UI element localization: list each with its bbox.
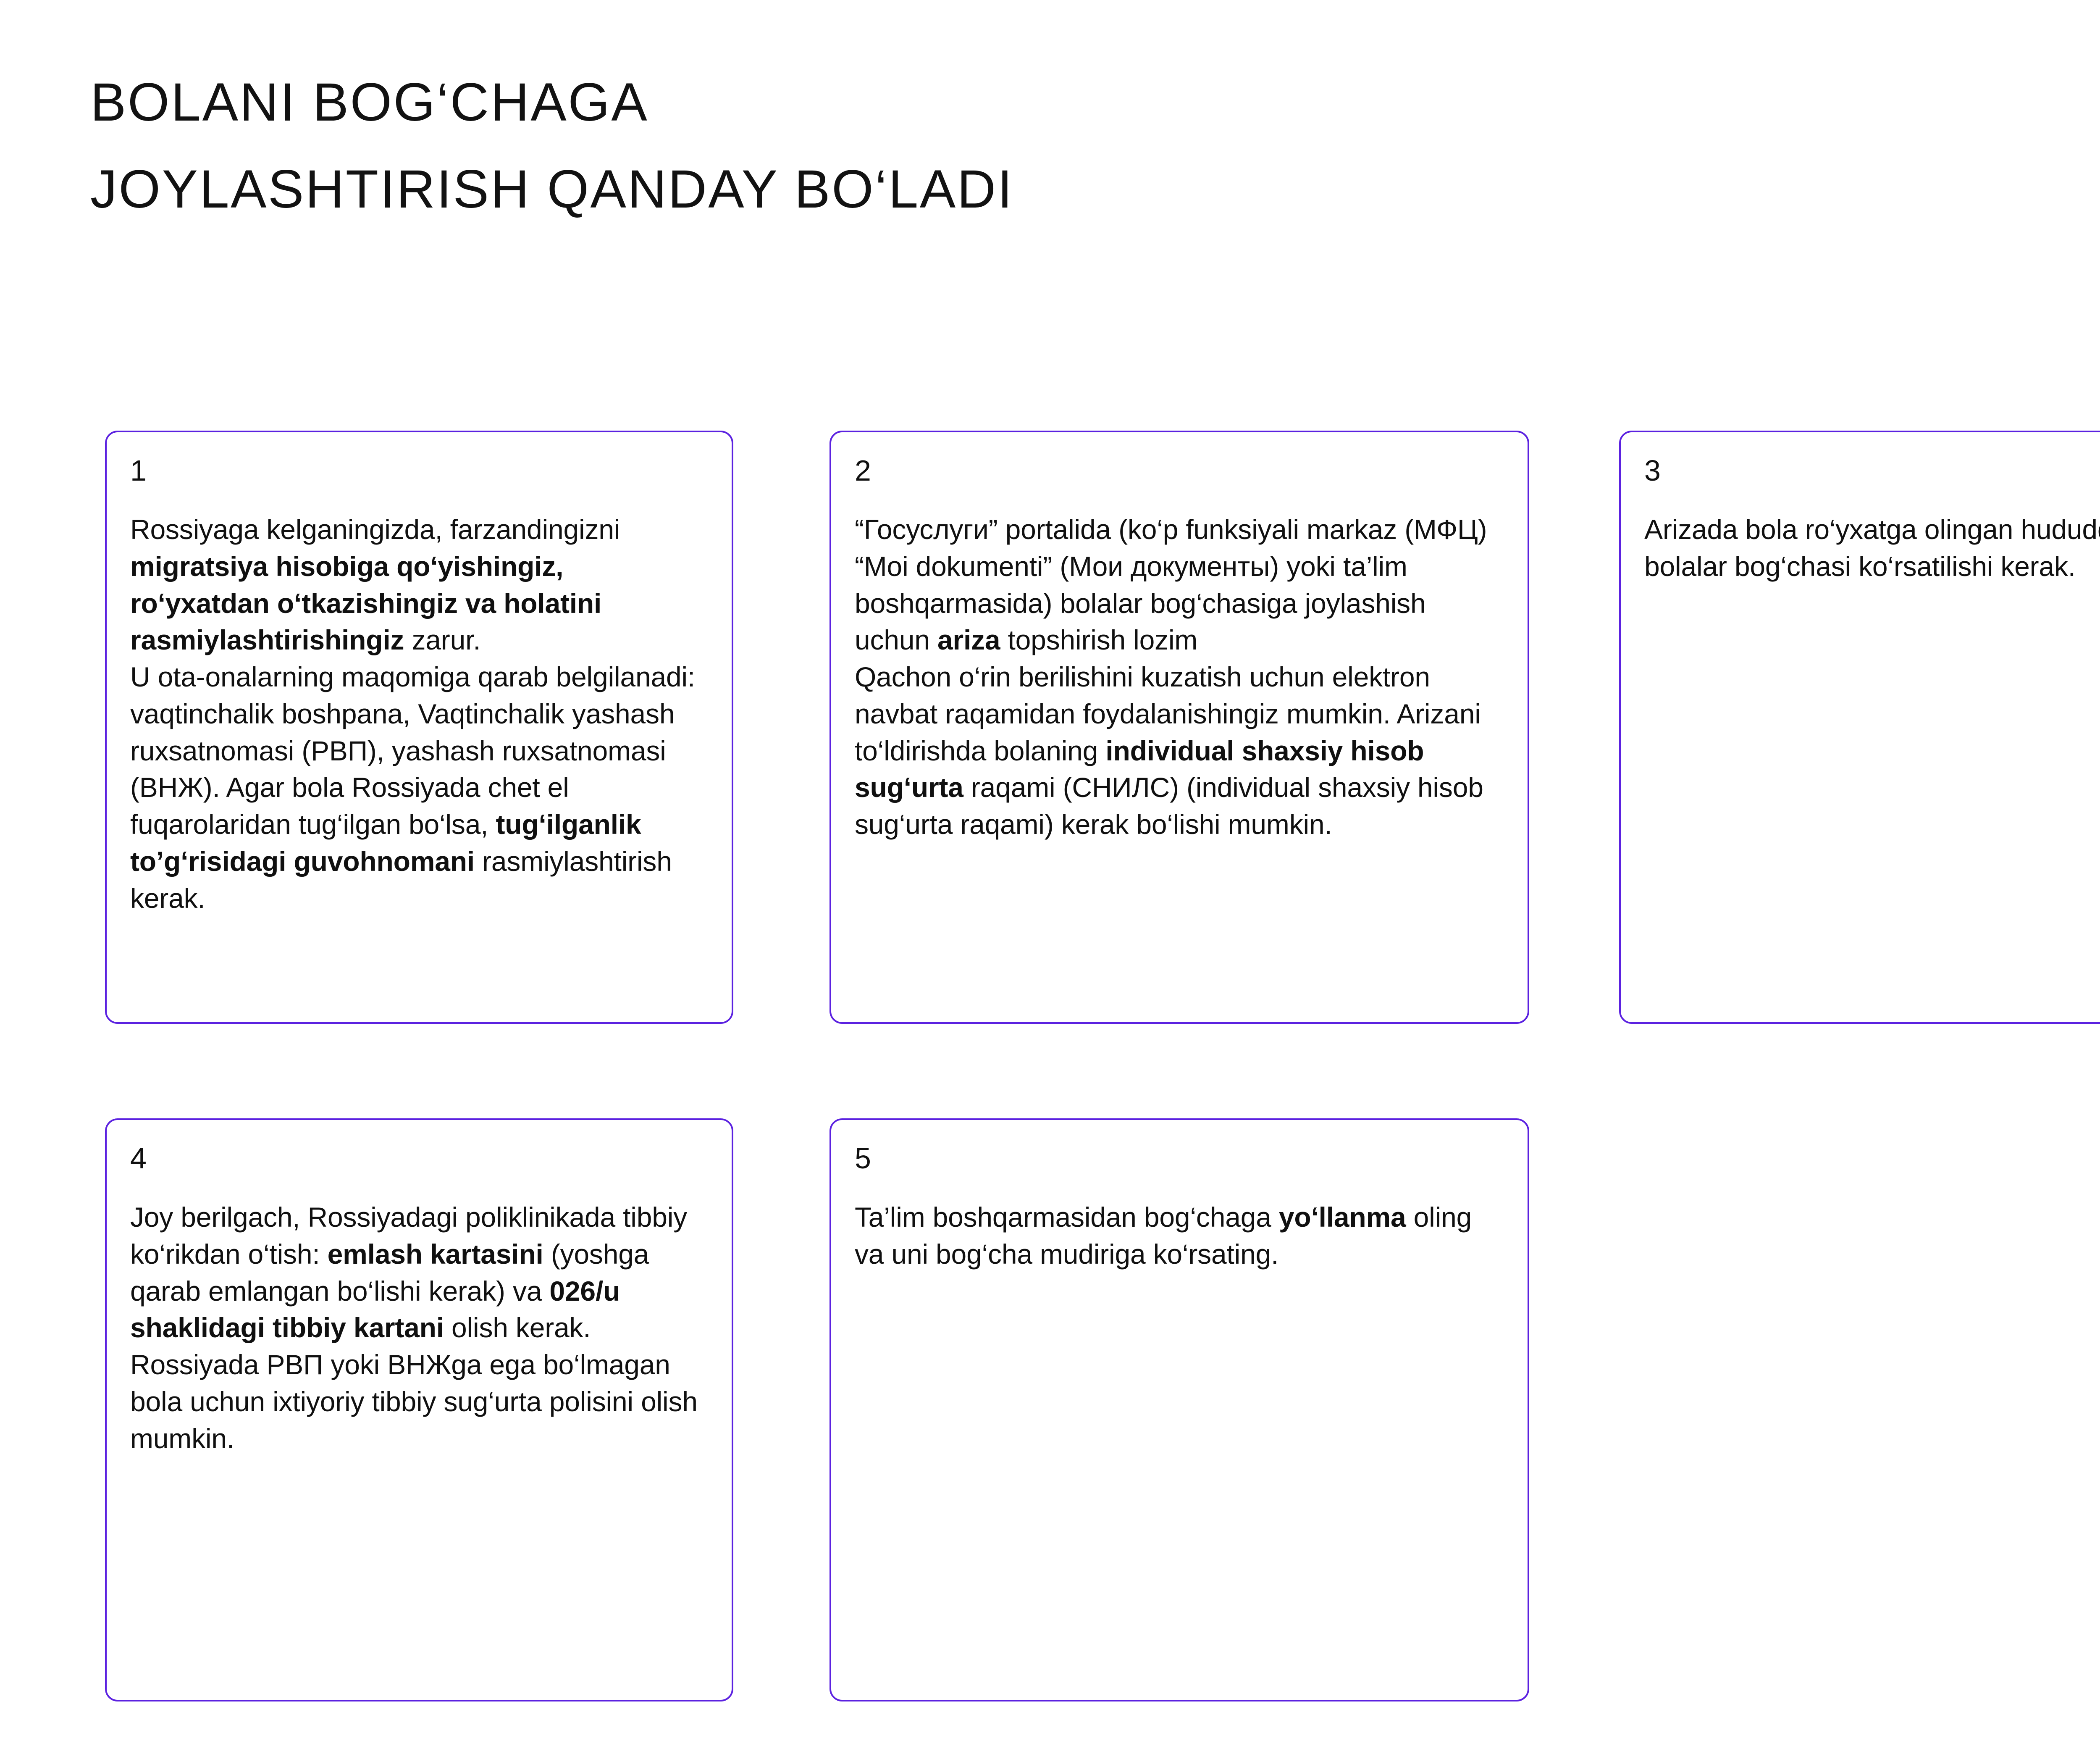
step-text-1: Rossiyaga kelganingizda, farzandingizni … [130, 511, 706, 917]
step-number-5: 5 [855, 1144, 1502, 1173]
step-card-5: 5 Ta’lim boshqarmasidan bog‘chaga yo‘lla… [829, 1118, 1529, 1701]
step-number-2: 2 [855, 456, 1502, 485]
step-text-3: Arizada bola ro‘yxatga olingan hududda u… [1644, 511, 2100, 585]
step-card-4: 4 Joy berilgach, Rossiyadagi poliklinika… [105, 1118, 733, 1701]
step-text-5: Ta’lim boshqarmasidan bog‘chaga yo‘llanm… [855, 1199, 1502, 1273]
step-text-4: Joy berilgach, Rossiyadagi poliklinikada… [130, 1199, 706, 1457]
step-number-1: 1 [130, 456, 706, 485]
step-card-1: 1 Rossiyaga kelganingizda, farzandingizn… [105, 431, 733, 1024]
step-number-3: 3 [1644, 456, 2100, 485]
step-cards-grid: 1 Rossiyaga kelganingizda, farzandingizn… [0, 0, 2100, 1754]
step-card-3: 3 Arizada bola ro‘yxatga olingan hududda… [1619, 431, 2100, 1024]
step-card-2: 2 “Госуслуги” portalida (ko‘p funksiyali… [829, 431, 1529, 1024]
step-text-2: “Госуслуги” portalida (ko‘p funksiyali m… [855, 511, 1502, 843]
step-number-4: 4 [130, 1144, 706, 1173]
